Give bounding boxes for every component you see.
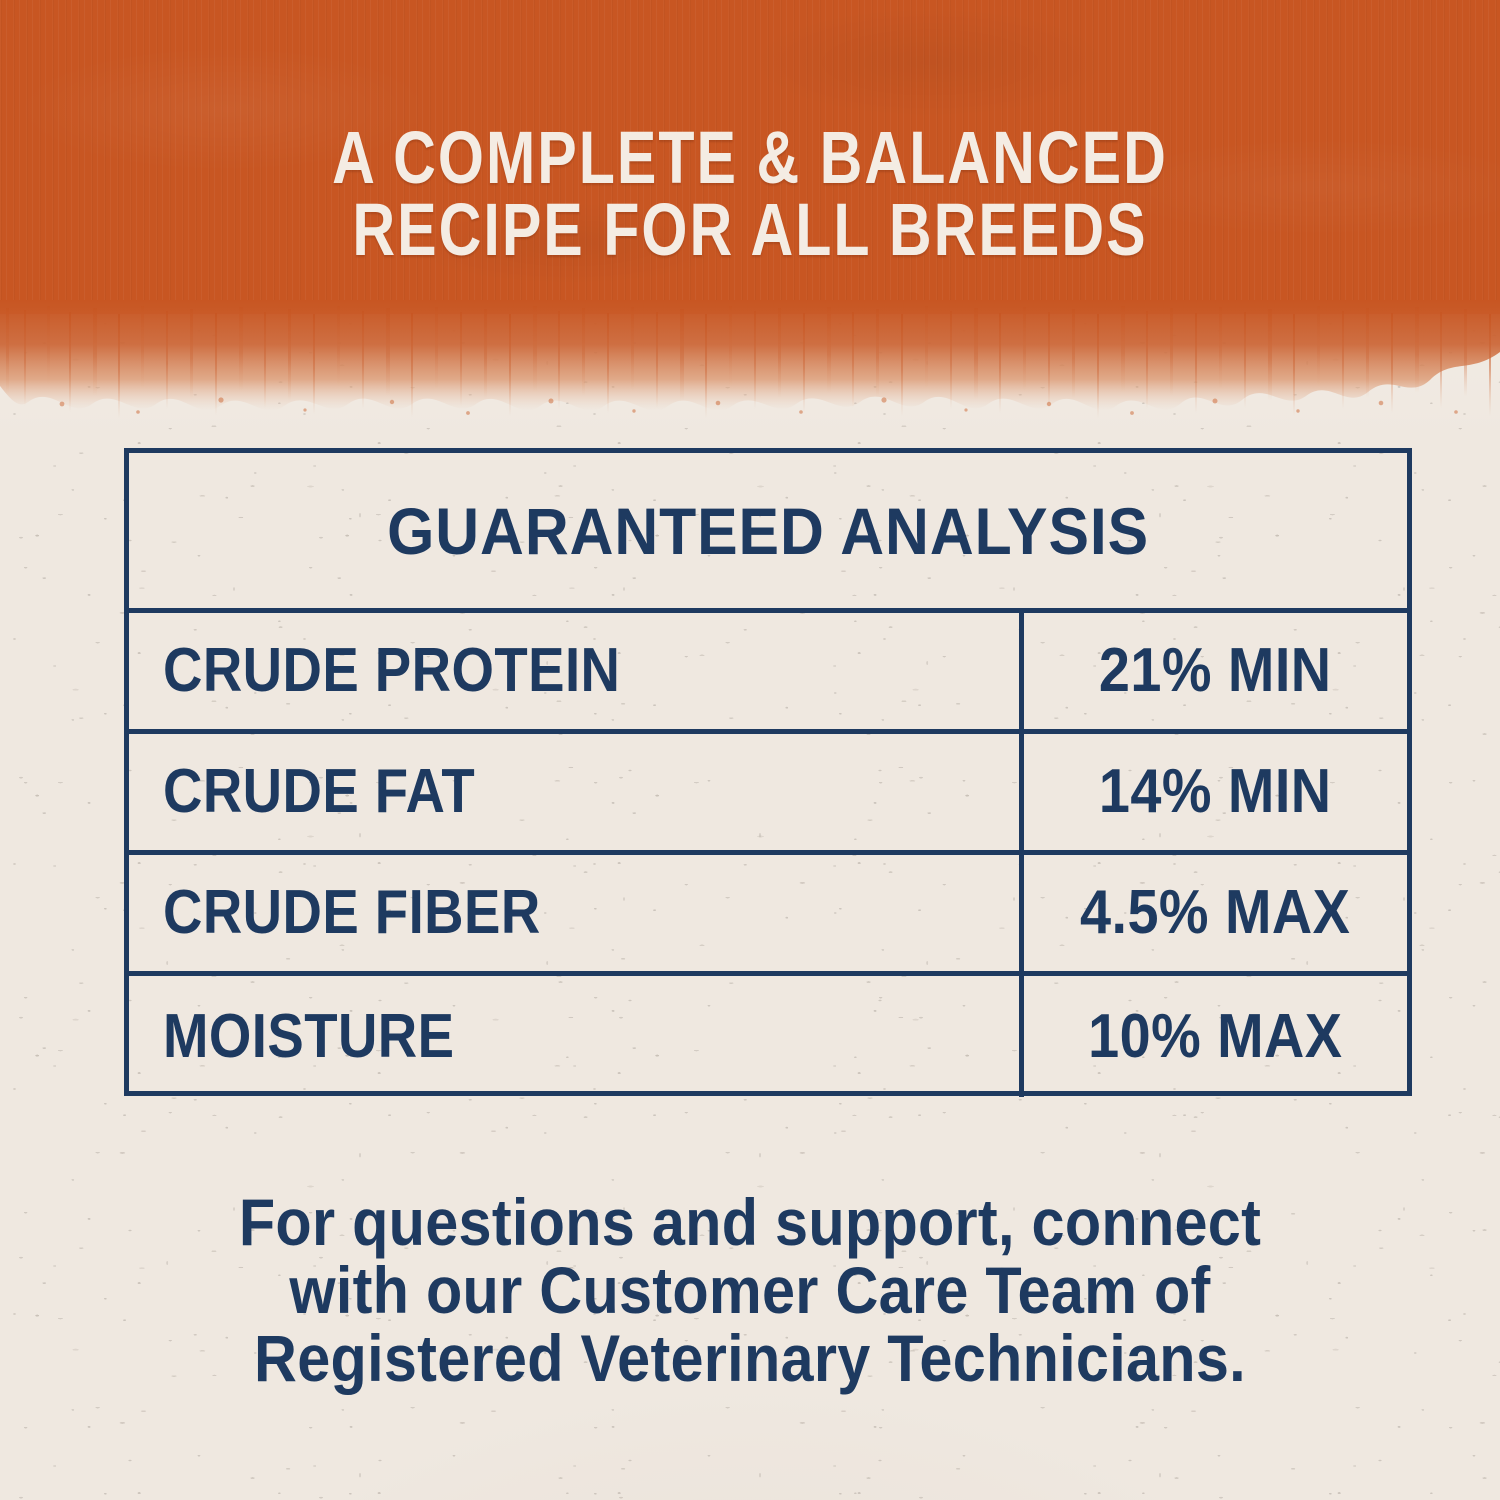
nutrient-label: CRUDE FIBER	[163, 882, 541, 944]
nutrient-value: 4.5% MAX	[1080, 882, 1350, 944]
table-row: CRUDE FAT 14% MIN	[129, 734, 1407, 855]
nutrient-label: MOISTURE	[163, 1006, 454, 1068]
nutrient-value: 10% MAX	[1088, 1006, 1342, 1068]
table-cell-label: CRUDE FAT	[129, 734, 1024, 850]
table-row: CRUDE FIBER 4.5% MAX	[129, 855, 1407, 976]
nutrient-value: 21% MIN	[1099, 640, 1332, 702]
nutrient-value: 14% MIN	[1099, 761, 1332, 823]
guaranteed-analysis-header: GUARANTEED ANALYSIS	[129, 453, 1407, 613]
table-cell-value: 14% MIN	[1024, 734, 1407, 850]
table-cell-label: CRUDE PROTEIN	[129, 613, 1024, 729]
table-row: CRUDE PROTEIN 21% MIN	[129, 613, 1407, 734]
table-cell-value: 4.5% MAX	[1024, 855, 1407, 971]
nutrient-label: CRUDE FAT	[163, 761, 475, 823]
customer-care-note-line-3: Registered Veterinary Technicians.	[75, 1324, 1425, 1392]
torn-paint-edge	[0, 300, 1500, 420]
customer-care-note-line-2: with our Customer Care Team of	[75, 1256, 1425, 1324]
banner-headline-line-1: A COMPLETE & BALANCED	[150, 122, 1350, 194]
nutrient-label: CRUDE PROTEIN	[163, 640, 620, 702]
guaranteed-analysis-table: GUARANTEED ANALYSIS CRUDE PROTEIN 21% MI…	[124, 448, 1412, 1096]
customer-care-note: For questions and support, connect with …	[0, 1188, 1500, 1392]
banner-headline-line-2: RECIPE FOR ALL BREEDS	[150, 194, 1350, 266]
guaranteed-analysis-title: GUARANTEED ANALYSIS	[387, 493, 1149, 569]
table-cell-value: 21% MIN	[1024, 613, 1407, 729]
product-info-panel: A COMPLETE & BALANCED RECIPE FOR ALL BRE…	[0, 0, 1500, 1500]
table-cell-label: MOISTURE	[129, 976, 1024, 1097]
table-cell-label: CRUDE FIBER	[129, 855, 1024, 971]
table-cell-value: 10% MAX	[1024, 976, 1407, 1097]
customer-care-note-line-1: For questions and support, connect	[75, 1188, 1425, 1256]
table-row: MOISTURE 10% MAX	[129, 976, 1407, 1097]
banner-headline: A COMPLETE & BALANCED RECIPE FOR ALL BRE…	[0, 122, 1500, 266]
